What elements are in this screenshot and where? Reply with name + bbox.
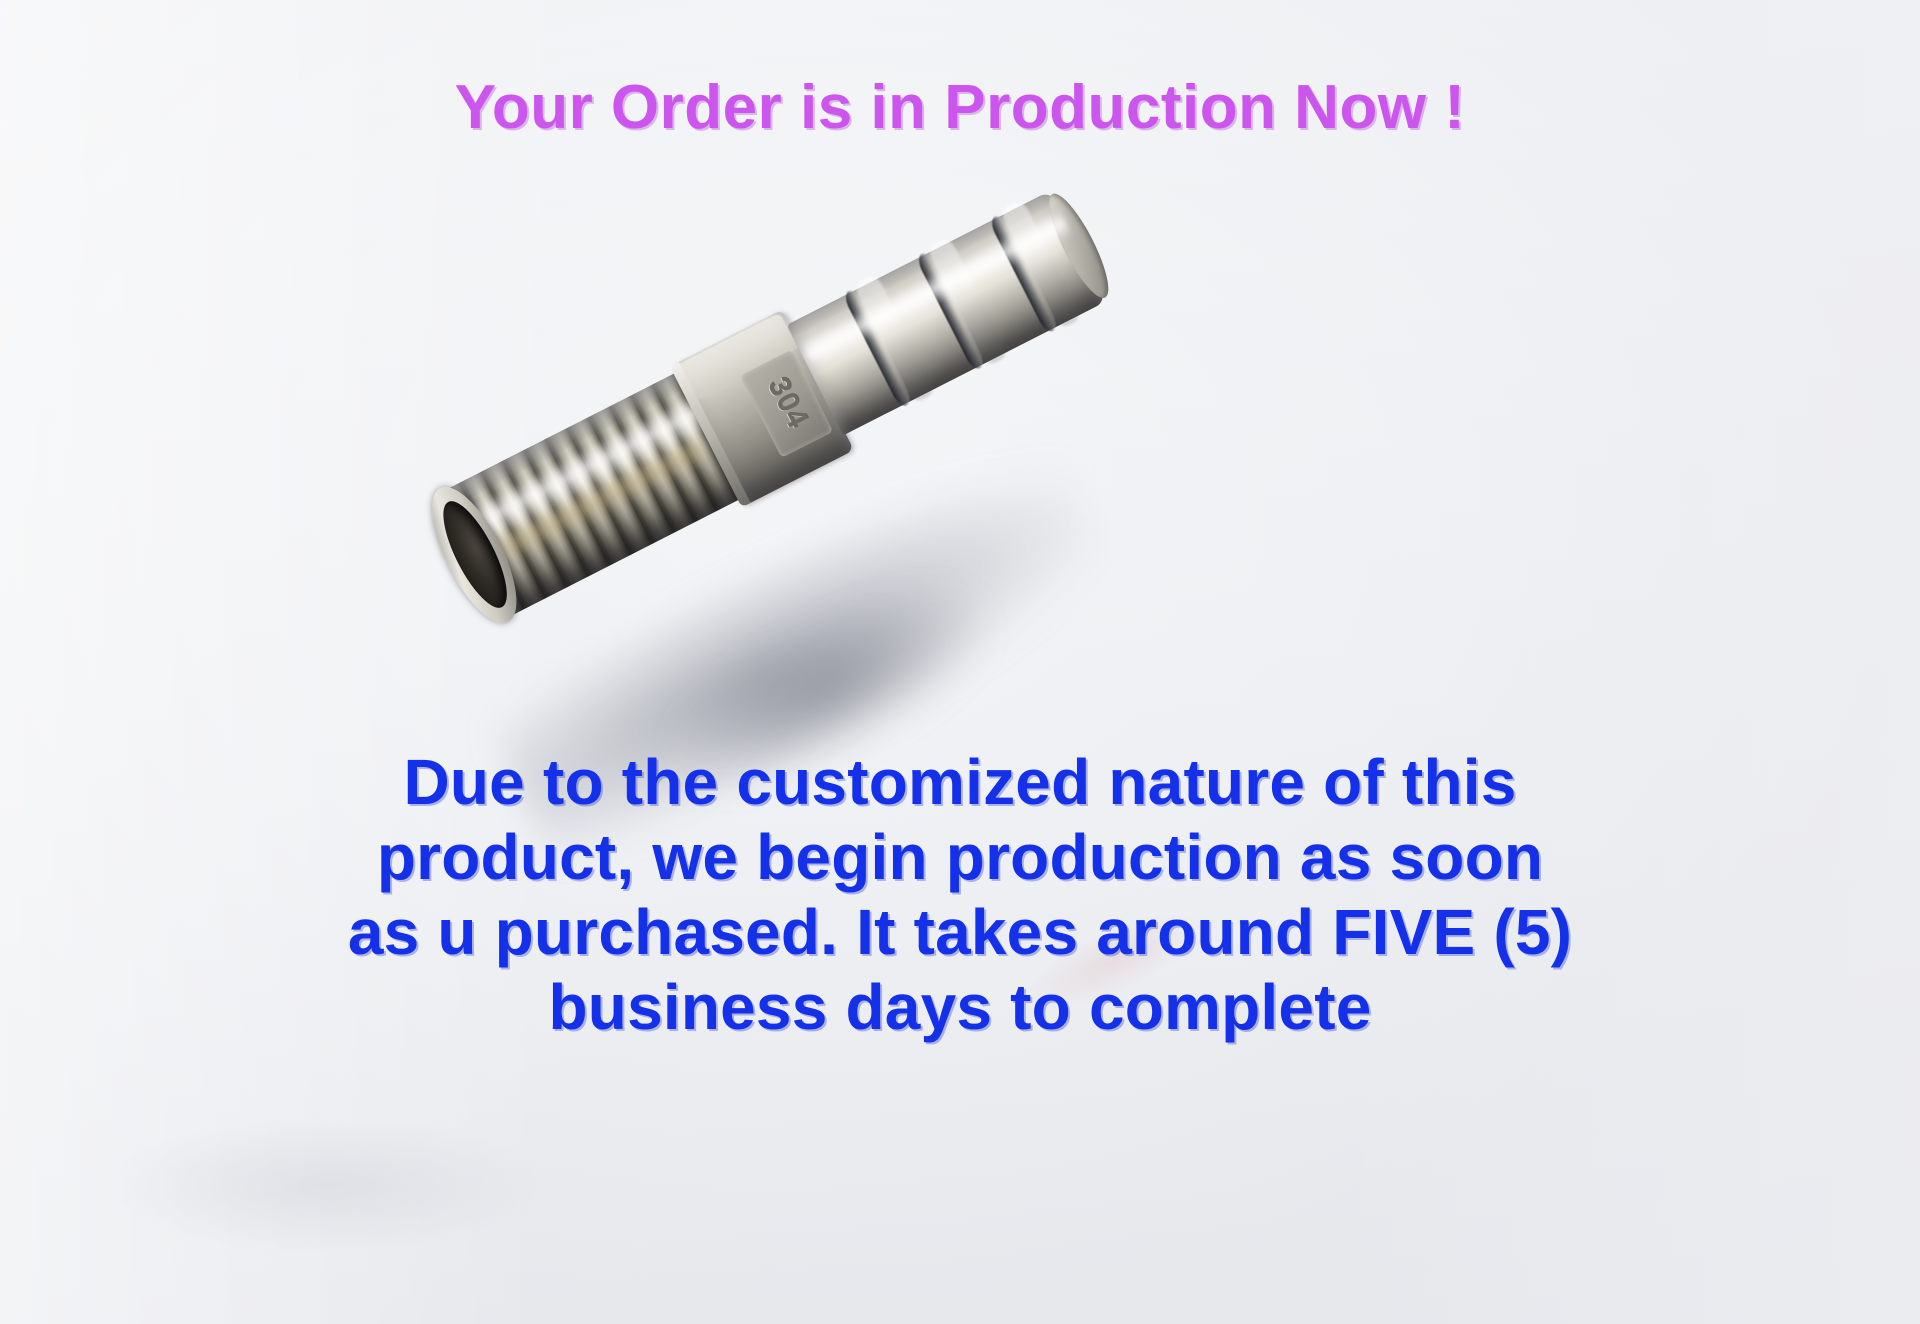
notice-line-2: product, we begin production as soon bbox=[0, 820, 1920, 895]
thread-warm-reflection bbox=[490, 433, 710, 568]
backdrop-smudge-left bbox=[120, 1120, 540, 1250]
promotional-banner: Your Order is in Production Now ! 304 bbox=[0, 0, 1920, 1324]
hose-barb-fitting: 304 bbox=[438, 180, 1112, 622]
product-photo: 304 bbox=[455, 300, 1155, 760]
notice-line-1: Due to the customized nature of this bbox=[0, 745, 1920, 820]
page-title: Your Order is in Production Now ! bbox=[0, 72, 1920, 143]
notice-line-3: as u purchased. It takes around FIVE (5) bbox=[0, 895, 1920, 970]
production-notice: Due to the customized nature of this pro… bbox=[0, 745, 1920, 1045]
product-stage: 304 bbox=[455, 300, 1155, 760]
notice-line-4: business days to complete bbox=[0, 970, 1920, 1045]
